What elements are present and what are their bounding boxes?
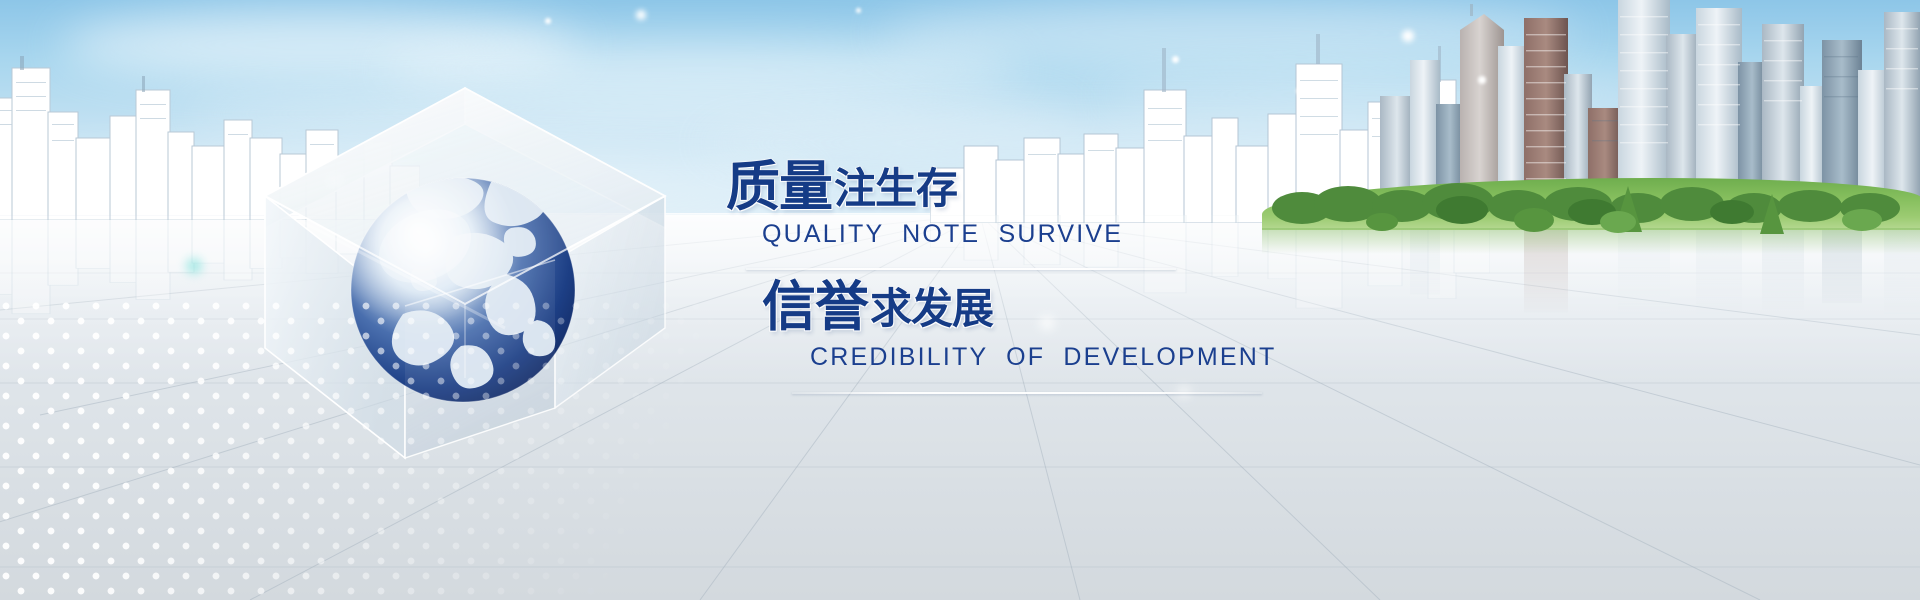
headline-cn-line-1: 质量注生存 — [726, 160, 957, 214]
headline-cn-emphasis-1: 质量 — [726, 160, 832, 214]
sparkle-glow — [1040, 316, 1054, 330]
sparkle-glow — [330, 176, 340, 186]
sparkle — [1402, 30, 1414, 42]
halftone-dot-pattern — [0, 300, 900, 600]
sparkle — [636, 10, 646, 20]
hero-banner: 质量注生存 QUALITY NOTE SURVIVE 信誉求发展 CREDIBI… — [0, 0, 1920, 600]
headline-block-quality: 质量注生存 QUALITY NOTE SURVIVE — [726, 160, 957, 214]
sparkle — [856, 8, 861, 13]
sparkle — [545, 18, 551, 24]
sparkle — [1296, 88, 1302, 94]
tree-cluster — [1262, 148, 1920, 234]
headline-cn-rest-1: 注生存 — [834, 168, 957, 210]
sparkle-glow — [186, 258, 202, 274]
sparkle — [1172, 56, 1179, 63]
headline-divider-1 — [746, 268, 1176, 270]
sparkle — [1478, 76, 1486, 84]
headline-en-subtitle-1: QUALITY NOTE SURVIVE — [762, 222, 1123, 247]
